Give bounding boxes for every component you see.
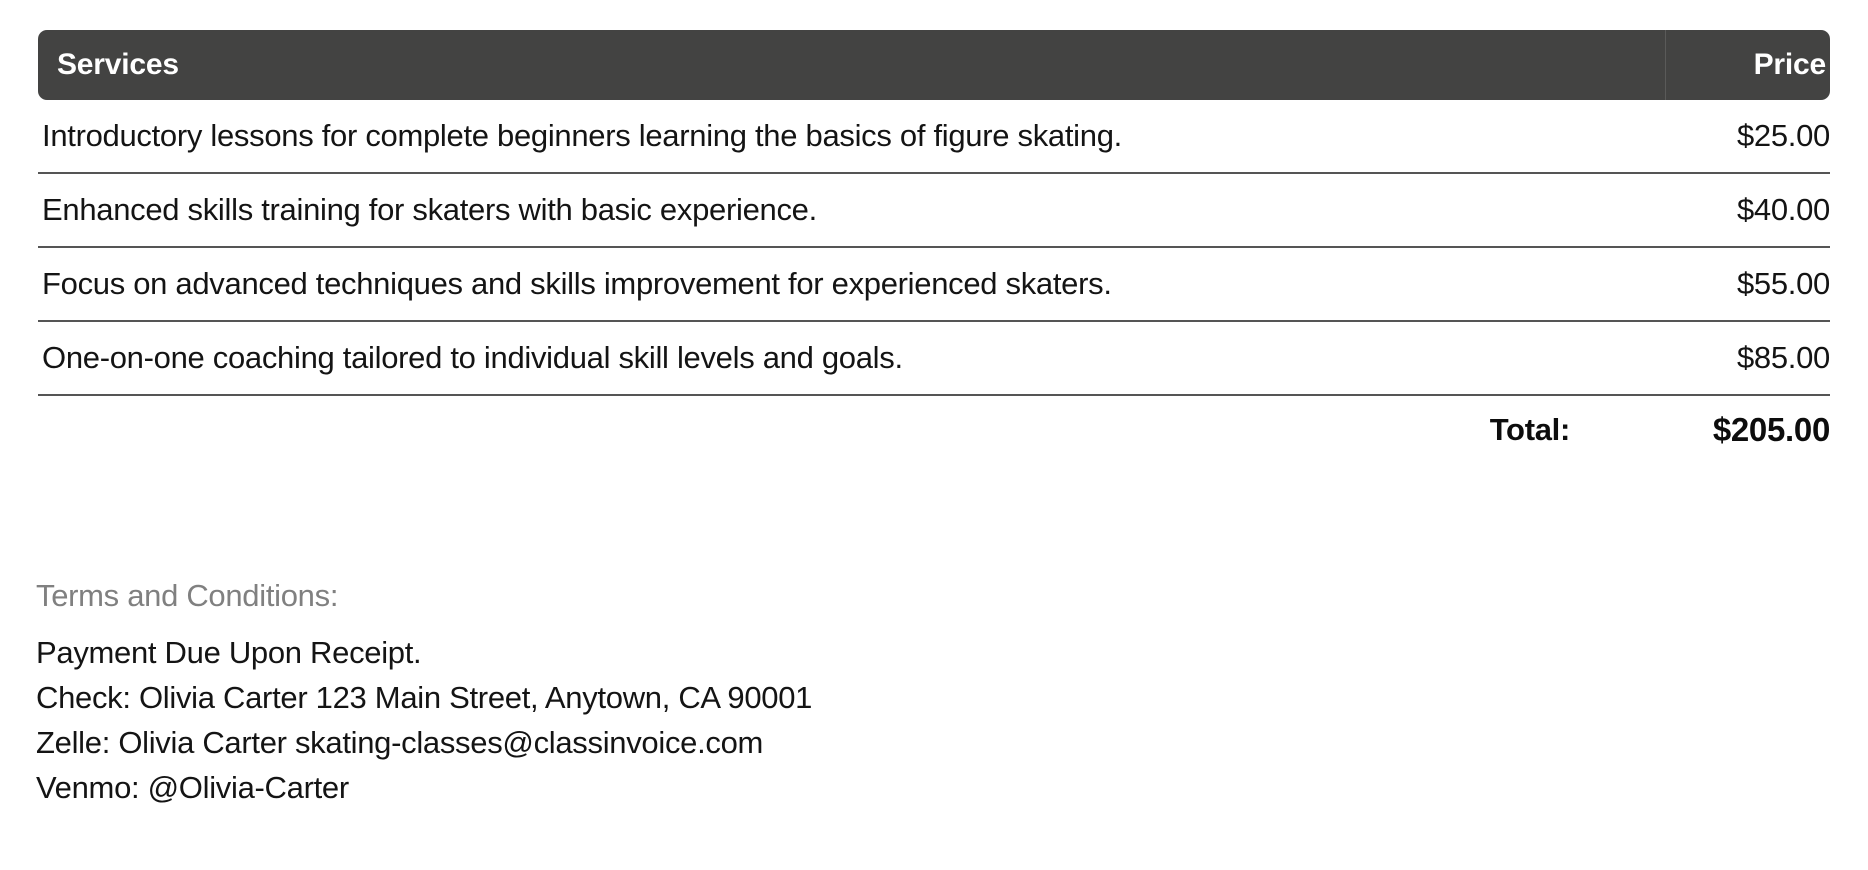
service-price: $25.00 bbox=[1570, 118, 1830, 154]
terms-title: Terms and Conditions: bbox=[36, 578, 1636, 614]
table-row: Introductory lessons for complete beginn… bbox=[38, 100, 1830, 174]
terms-line-zelle: Zelle: Olivia Carter skating-classes@cla… bbox=[36, 720, 1636, 765]
table-row: Enhanced skills training for skaters wit… bbox=[38, 174, 1830, 248]
table-row: Focus on advanced techniques and skills … bbox=[38, 248, 1830, 322]
terms-line-venmo: Venmo: @Olivia-Carter bbox=[36, 765, 1636, 810]
service-description: Focus on advanced techniques and skills … bbox=[38, 267, 1570, 301]
header-column-divider bbox=[1665, 30, 1666, 100]
total-label: Total: bbox=[1410, 412, 1570, 448]
terms-line-payment-due: Payment Due Upon Receipt. bbox=[36, 630, 1636, 675]
total-amount: $205.00 bbox=[1570, 411, 1830, 449]
service-price: $40.00 bbox=[1570, 192, 1830, 228]
service-description: One-on-one coaching tailored to individu… bbox=[38, 341, 1570, 375]
service-description: Enhanced skills training for skaters wit… bbox=[38, 193, 1570, 227]
table-header-row: Services Price bbox=[38, 30, 1830, 100]
services-price-table: Services Price Introductory lessons for … bbox=[38, 30, 1830, 464]
table-row: One-on-one coaching tailored to individu… bbox=[38, 322, 1830, 396]
terms-and-conditions-section: Terms and Conditions: Payment Due Upon R… bbox=[36, 578, 1636, 810]
service-description: Introductory lessons for complete beginn… bbox=[38, 119, 1570, 153]
column-header-services: Services bbox=[38, 48, 1665, 82]
terms-line-check: Check: Olivia Carter 123 Main Street, An… bbox=[36, 675, 1636, 720]
total-row: Total: $205.00 bbox=[38, 396, 1830, 464]
service-price: $55.00 bbox=[1570, 266, 1830, 302]
column-header-price: Price bbox=[1665, 48, 1830, 82]
service-price: $85.00 bbox=[1570, 340, 1830, 376]
